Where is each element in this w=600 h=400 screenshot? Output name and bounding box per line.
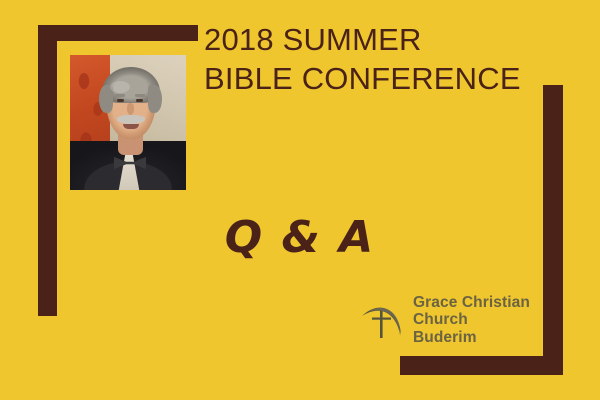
portrait-eye-left <box>117 99 124 102</box>
portrait-mouth <box>123 124 139 129</box>
frame-bar-top-left <box>38 25 198 41</box>
frame-bar-left-vertical <box>38 25 57 316</box>
page-title: 2018 SUMMER BIBLE CONFERENCE <box>204 20 544 98</box>
church-logo: Grace Christian Church Buderim <box>360 298 535 342</box>
portrait-hair-right <box>148 85 162 113</box>
portrait-moustache <box>117 115 145 124</box>
topic-title: Q & A <box>0 212 600 263</box>
portrait-forehead-highlight <box>110 81 130 93</box>
portrait-eyebrow-left <box>115 94 125 97</box>
portrait-eyebrow-right <box>135 94 145 97</box>
speaker-portrait <box>70 55 186 190</box>
church-logo-text: Grace Christian Church Buderim <box>413 294 535 347</box>
portrait-eye-right <box>136 99 143 102</box>
conference-slide: 2018 SUMMER BIBLE CONFERENCE Q & A Grace… <box>0 0 600 400</box>
frame-bar-bottom-right <box>400 356 563 375</box>
portrait-nose <box>127 103 134 115</box>
cross-with-arcs-logo-mark <box>360 300 406 340</box>
